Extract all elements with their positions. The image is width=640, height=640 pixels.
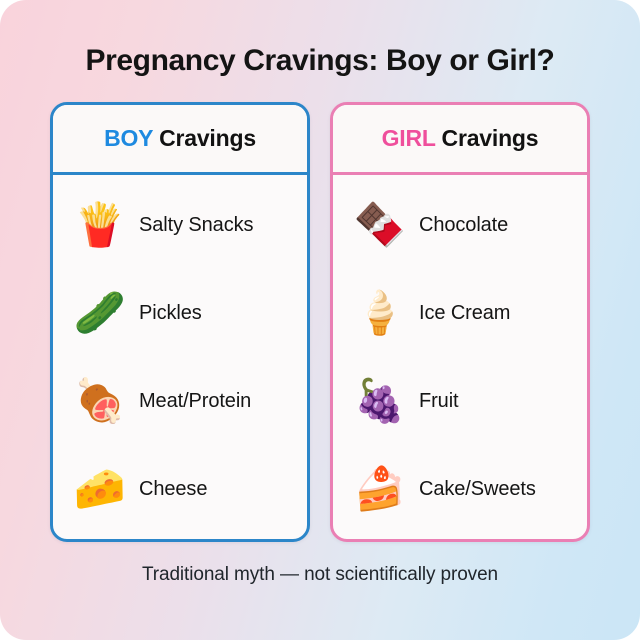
cards-container: BOY Cravings 🍟 Salty Snacks 🥒 Pickles 🍖 … (50, 102, 590, 542)
girl-header-rest: Cravings (442, 125, 539, 151)
list-item: 🧀 Cheese (53, 446, 307, 532)
boy-header-text: BOY Cravings (104, 125, 256, 152)
list-item-label: Meat/Protein (139, 390, 251, 413)
list-item: 🥒 Pickles (53, 270, 307, 356)
page-title: Pregnancy Cravings: Boy or Girl? (86, 44, 555, 77)
girl-cravings-card: GIRL Cravings 🍫 Chocolate 🍦 Ice Cream 🍇 … (330, 102, 590, 542)
chocolate-icon: 🍫 (349, 194, 411, 256)
boy-accent-word: BOY (104, 125, 153, 151)
fruit-icon: 🍇 (349, 370, 411, 432)
list-item: 🍰 Cake/Sweets (333, 446, 587, 532)
list-item-label: Fruit (419, 390, 459, 413)
list-item-label: Salty Snacks (139, 214, 253, 237)
girl-accent-word: GIRL (382, 125, 436, 151)
salty-snacks-icon: 🍟 (69, 194, 131, 256)
list-item: 🍇 Fruit (333, 358, 587, 444)
list-item-label: Chocolate (419, 214, 508, 237)
boy-header-rest: Cravings (159, 125, 256, 151)
ice-cream-icon: 🍦 (349, 282, 411, 344)
list-item: 🍫 Chocolate (333, 182, 587, 268)
meat-icon: 🍖 (69, 370, 131, 432)
list-item-label: Cheese (139, 478, 207, 501)
cake-icon: 🍰 (349, 458, 411, 520)
girl-card-body: 🍫 Chocolate 🍦 Ice Cream 🍇 Fruit 🍰 Cake/S… (333, 175, 587, 539)
list-item: 🍖 Meat/Protein (53, 358, 307, 444)
boy-card-body: 🍟 Salty Snacks 🥒 Pickles 🍖 Meat/Protein … (53, 175, 307, 539)
list-item-label: Ice Cream (419, 302, 510, 325)
list-item: 🍦 Ice Cream (333, 270, 587, 356)
footer-note: Traditional myth — not scientifically pr… (142, 564, 498, 586)
boy-cravings-card: BOY Cravings 🍟 Salty Snacks 🥒 Pickles 🍖 … (50, 102, 310, 542)
girl-header-text: GIRL Cravings (382, 125, 539, 152)
list-item-label: Pickles (139, 302, 202, 325)
list-item-label: Cake/Sweets (419, 478, 536, 501)
infographic-canvas: Pregnancy Cravings: Boy or Girl? BOY Cra… (0, 0, 640, 640)
cheese-icon: 🧀 (69, 458, 131, 520)
pickle-jar-icon: 🥒 (69, 282, 131, 344)
list-item: 🍟 Salty Snacks (53, 182, 307, 268)
girl-card-header: GIRL Cravings (333, 105, 587, 175)
boy-card-header: BOY Cravings (53, 105, 307, 175)
